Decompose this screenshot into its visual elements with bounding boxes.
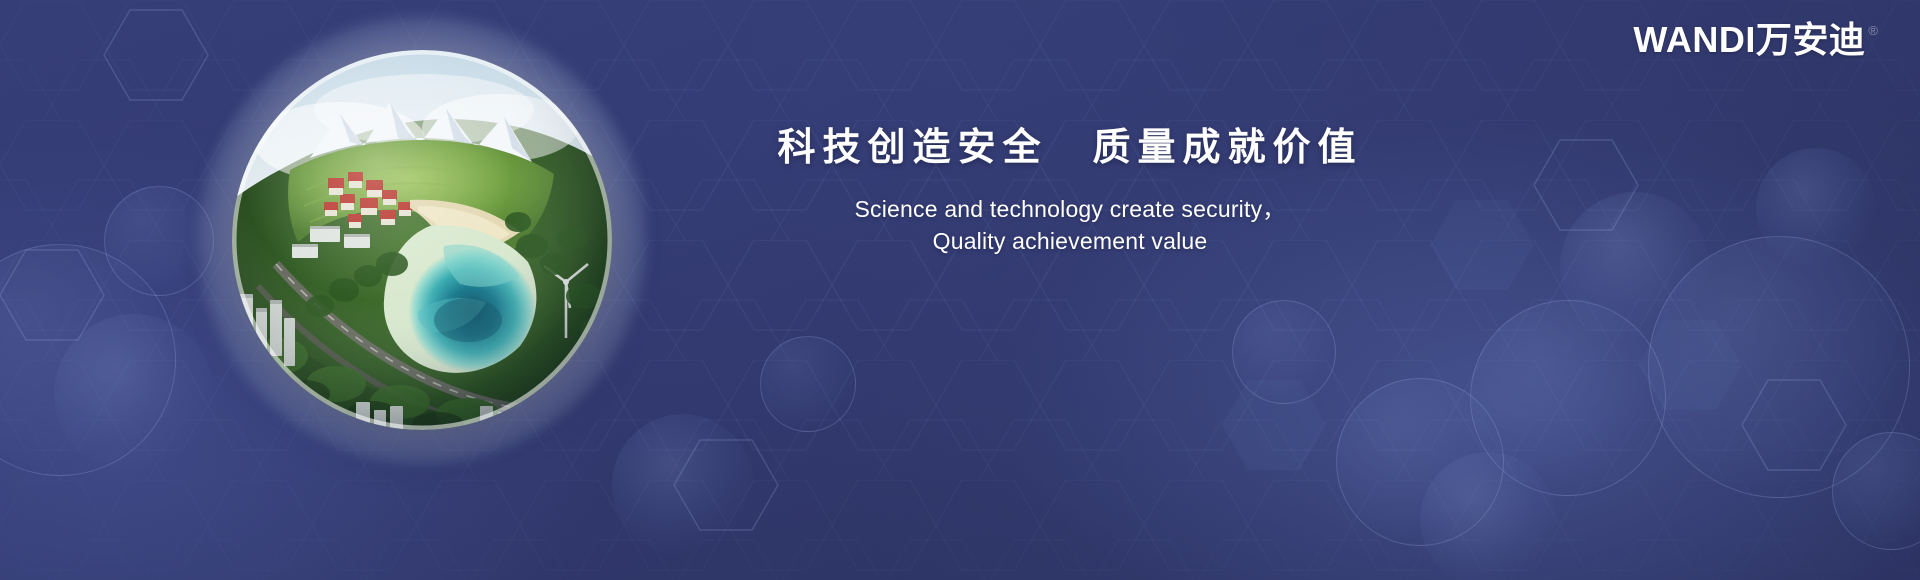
hero-copy: 科技创造安全 质量成就价值 Science and technology cre… bbox=[745, 126, 1395, 258]
bokeh-circle bbox=[54, 314, 214, 474]
page-subtitle: Science and technology create security， … bbox=[745, 193, 1395, 258]
hero-banner: WANDI万安迪 ® bbox=[0, 0, 1920, 580]
bokeh-circle bbox=[1648, 236, 1910, 498]
brand-logo[interactable]: WANDI万安迪 ® bbox=[1633, 22, 1878, 58]
logo-wordmark: WANDI万安迪 bbox=[1633, 22, 1865, 58]
subtitle-line-1: Science and technology create security， bbox=[745, 193, 1395, 226]
bokeh-circle bbox=[1470, 300, 1666, 496]
bokeh-circle bbox=[1336, 378, 1504, 546]
bokeh-circle bbox=[1232, 300, 1336, 404]
globe-illustration bbox=[232, 50, 612, 430]
bokeh-circle bbox=[1420, 452, 1556, 580]
subtitle-line-2: Quality achievement value bbox=[745, 225, 1395, 258]
registered-trademark-icon: ® bbox=[1868, 24, 1878, 37]
bokeh-circle bbox=[1756, 148, 1876, 268]
bokeh-circle bbox=[612, 414, 754, 556]
bokeh-circle bbox=[1560, 192, 1710, 342]
bokeh-circle bbox=[1832, 432, 1920, 550]
bokeh-circle bbox=[0, 244, 176, 476]
bokeh-circle bbox=[760, 336, 856, 432]
page-title: 科技创造安全 质量成就价值 bbox=[745, 126, 1395, 171]
tiny-planet-earth-photo bbox=[232, 50, 612, 430]
